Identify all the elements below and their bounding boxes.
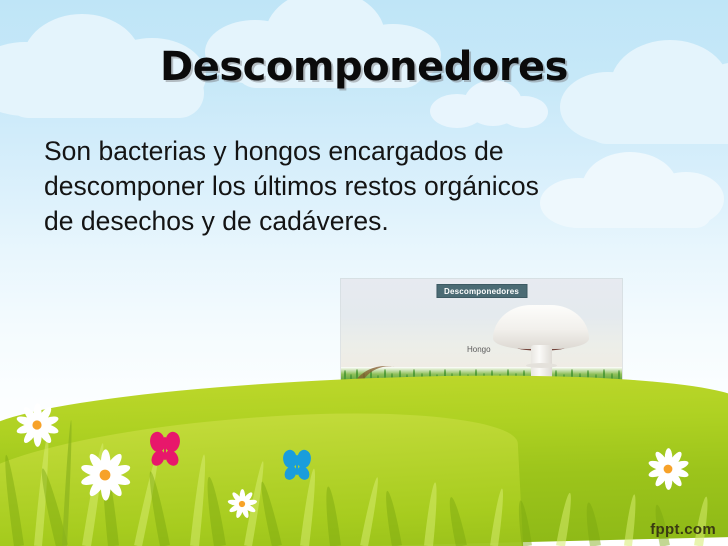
daisy-flower xyxy=(6,394,68,456)
diagram-banner-title: Descomponedores xyxy=(436,284,527,298)
page-title: Descomponedores xyxy=(0,44,728,90)
daisy-flower xyxy=(69,439,142,512)
daisy-flower xyxy=(226,488,257,519)
slide-canvas: Descomponedores Son bacterias y hongos e… xyxy=(0,0,728,546)
diagram-label-hongo: Hongo xyxy=(467,345,491,354)
butterfly-icon-blue xyxy=(283,450,311,480)
butterfly-icon-pink xyxy=(150,432,180,466)
body-paragraph: Son bacterias y hongos encargados de des… xyxy=(44,134,684,239)
fppt-watermark: fppt.com xyxy=(650,521,716,538)
daisy-flower xyxy=(641,442,696,497)
meadow-decoration xyxy=(0,366,728,546)
mushroom-cap xyxy=(493,305,589,349)
